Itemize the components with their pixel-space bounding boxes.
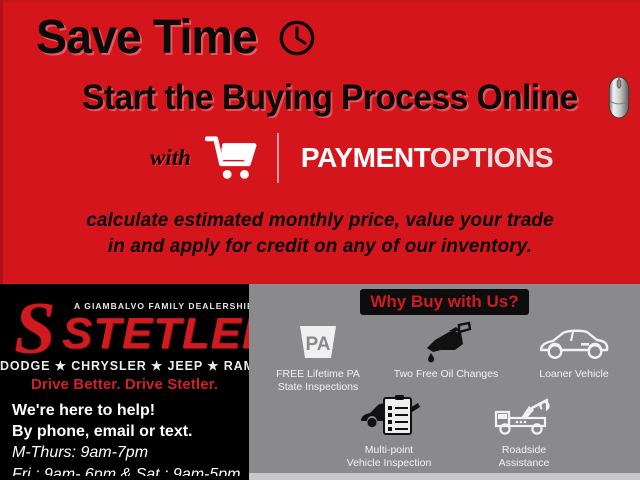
hero-subcopy-line-1: calculate estimated monthly price, value… [0,208,640,234]
feature-caption: Roadside Assistance [457,444,591,469]
shopping-cart-icon [205,134,259,182]
tow-truck-icon [493,396,555,440]
headline-save-time-text: Save Time [36,14,257,62]
feature-caption: Loaner Vehicle [511,368,637,381]
pa-keystone-icon: PA [296,320,340,364]
svg-text:PA: PA [306,334,331,355]
dealer-contact-block: We're here to help! By phone, email or t… [12,400,249,480]
advertisement-banner: Save Time Start the Buying Process Onlin… [0,0,640,480]
headline-start-buying-text: Start the Buying Process Online [82,80,578,115]
feature-caption: Multi-point Vehicle Inspection [321,444,457,469]
bottom-black-strip [0,476,249,480]
feature-loaner-vehicle: Loaner Vehicle [511,318,637,381]
feature-icon-wrap [379,318,513,364]
logo-dealer-name: STETLER [62,312,249,356]
clock-icon [278,19,316,57]
why-buy-panel: Why Buy with Us? PA FREE Lifetime PA Sta… [249,284,640,473]
feature-pa-inspections: PA FREE Lifetime PA State Inspections [255,318,381,393]
why-buy-heading-text: Why Buy with Us? [360,289,528,315]
hero-top-edge-shade [0,0,640,2]
feature-multipoint-inspection: Multi-point Vehicle Inspection [321,394,457,469]
payment-options-lockup: with PAYMENTOPTIONS [150,133,553,183]
payment-options-wordmark: PAYMENTOPTIONS [301,142,553,174]
dealer-info-panel: S A GIAMBALVO FAMILY DEALERSHIP STETLER … [0,284,249,480]
wordmark-payment: PAYMENT [301,142,430,173]
vehicle-checklist-icon [357,394,421,440]
feature-free-oil-changes: Two Free Oil Changes [379,318,513,381]
contact-line-1: We're here to help! [12,400,249,421]
hero-red-panel: Save Time Start the Buying Process Onlin… [0,0,640,284]
why-buy-heading: Why Buy with Us? [249,289,640,315]
headline-save-time: Save Time [36,14,316,62]
feature-icon-wrap [511,318,637,364]
lockup-divider [277,133,279,183]
feature-roadside-assistance: Roadside Assistance [457,394,591,469]
logo-initial-s: S [14,292,52,366]
oil-can-icon [419,320,473,364]
computer-mouse-icon [608,76,630,119]
contact-hours-weekday: M-Thurs: 9am-7pm [12,442,249,464]
dealer-brands: DODGE ★ CHRYSLER ★ JEEP ★ RAM [0,358,249,373]
hero-subcopy-line-2: in and apply for credit on any of our in… [0,234,640,260]
feature-icon-wrap: PA [255,318,381,364]
feature-icon-wrap [457,394,591,440]
feature-caption: Two Free Oil Changes [379,368,513,381]
contact-line-2: By phone, email or text. [12,421,249,442]
hero-subcopy: calculate estimated monthly price, value… [0,208,640,260]
headline-start-buying: Start the Buying Process Online [82,76,630,119]
feature-caption: FREE Lifetime PA State Inspections [255,368,381,393]
bottom-light-strip [249,473,640,480]
car-icon [537,324,611,364]
with-label: with [150,145,191,171]
dealer-tagline: Drive Better. Drive Stetler. [0,376,249,393]
feature-icon-wrap [321,394,457,440]
wordmark-options: OPTIONS [430,142,553,173]
